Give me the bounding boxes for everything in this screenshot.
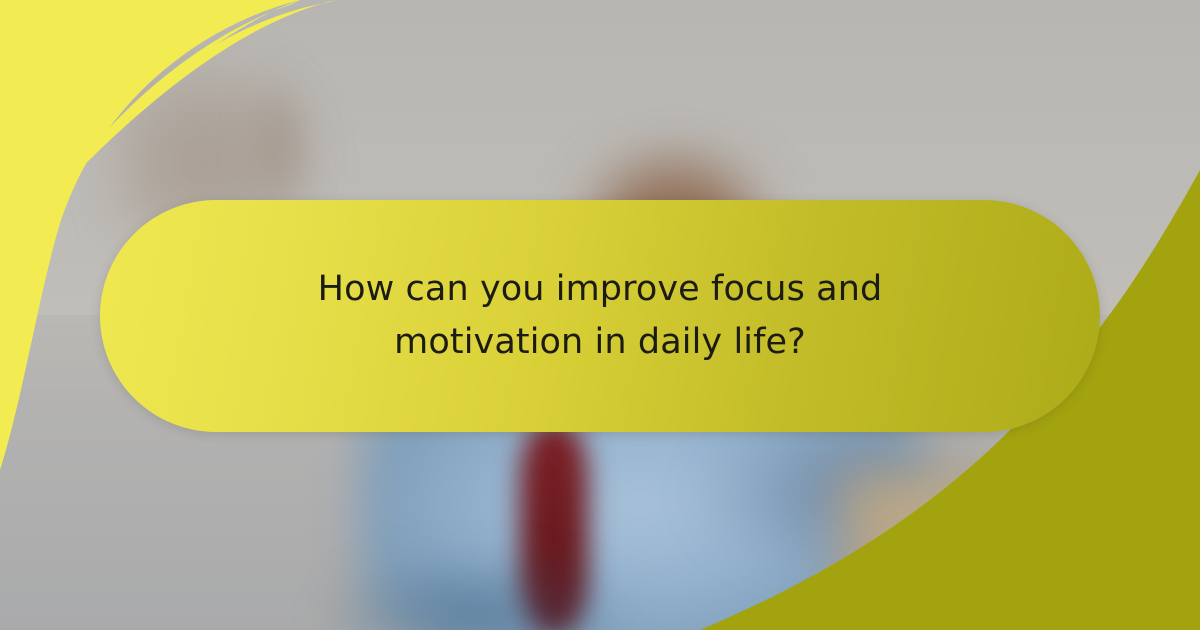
background-bottom-blur — [330, 560, 620, 630]
quote-card[interactable]: How can you improve focus and motivation… — [100, 200, 1100, 432]
quote-text: How can you improve focus and motivation… — [220, 263, 980, 369]
page-canvas: How can you improve focus and motivation… — [0, 0, 1200, 630]
background-desk-blur — [840, 470, 1170, 630]
background-arm-blur — [245, 70, 315, 220]
